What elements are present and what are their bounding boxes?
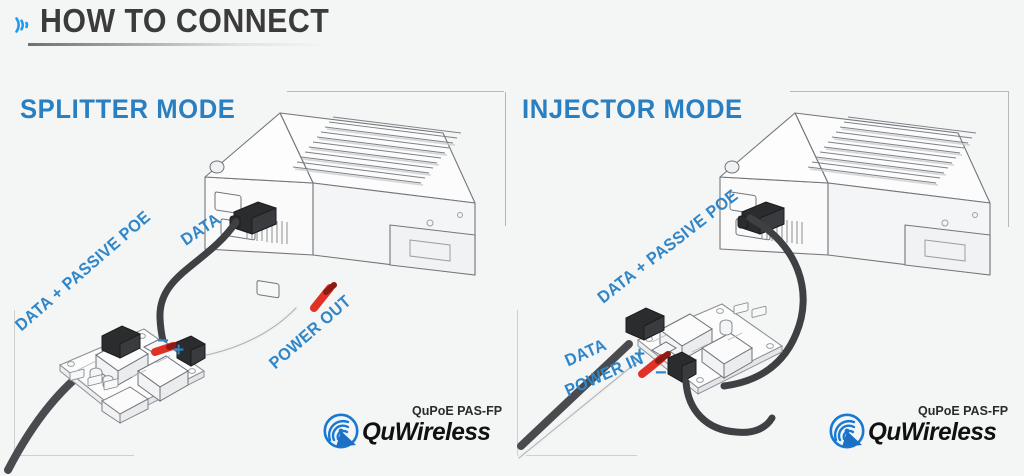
plus-sign-right: + [634, 344, 645, 366]
quwireless-radar-logo-icon [828, 414, 866, 452]
page-title: HOW TO CONNECT [40, 2, 329, 40]
panel-divider [505, 92, 506, 226]
left-panel-frame-top [287, 91, 504, 92]
quwireless-logo-text: QuWireless [362, 418, 490, 447]
quwireless-radar-logo-icon [322, 414, 360, 452]
quwireless-logo-text: QuWireless [868, 418, 996, 447]
minus-sign-left: − [157, 330, 169, 353]
wifi-signal-icon [10, 12, 36, 38]
page-header: HOW TO CONNECT [0, 0, 1024, 56]
plus-sign-left: + [173, 340, 184, 362]
right-panel-frame-top [790, 91, 1008, 92]
diagram-canvas: HOW TO CONNECT SPLITTER MODE [0, 0, 1024, 476]
minus-sign-right: − [655, 362, 667, 385]
quwireless-logo-left: QuWireless [322, 412, 498, 452]
rj45-connector-board-left [96, 318, 148, 362]
quwireless-logo-right: QuWireless [828, 412, 1004, 452]
board-out-cable-right [662, 348, 782, 458]
title-underline [28, 43, 328, 46]
